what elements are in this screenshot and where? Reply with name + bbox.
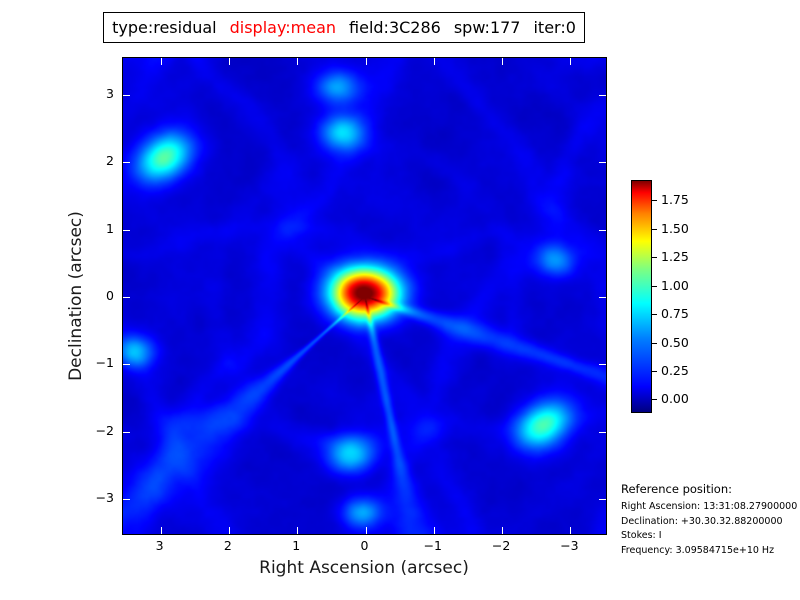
colorbar-tick-mark: [652, 343, 657, 344]
banner-item-spw: spw:177: [454, 20, 521, 36]
y-tick-mark: [599, 364, 606, 365]
x-tick-mark: [434, 527, 435, 534]
y-axis-title: Declination (arcsec): [66, 211, 86, 381]
x-tick-label: −1: [424, 540, 442, 553]
colorbar-tick-label: 1.25: [661, 251, 689, 264]
x-tick-mark: [161, 527, 162, 534]
x-tick-mark: [297, 527, 298, 534]
x-tick-label: 0: [361, 540, 369, 553]
colorbar[interactable]: 1.751.501.251.000.750.500.250.00: [631, 180, 652, 413]
y-tick-mark: [599, 162, 606, 163]
y-tick-mark: [123, 499, 130, 500]
colorbar-tick-mark: [652, 314, 657, 315]
colorbar-tick-mark: [652, 229, 657, 230]
x-tick-mark: [366, 527, 367, 534]
residual-image-plot[interactable]: [122, 57, 607, 535]
reference-declination: Declination: +30.30.32.88200000: [621, 515, 799, 529]
y-tick-mark: [123, 162, 130, 163]
x-tick-mark: [229, 527, 230, 534]
x-tick-label: −2: [492, 540, 510, 553]
x-tick-label: 2: [224, 540, 232, 553]
colorbar-tick-label: 1.00: [661, 279, 689, 292]
y-tick-label: −2: [92, 424, 114, 437]
y-tick-label: 1: [92, 222, 114, 235]
y-tick-label: 2: [92, 155, 114, 168]
x-tick-mark: [434, 58, 435, 65]
y-tick-label: 3: [92, 88, 114, 101]
y-tick-mark: [599, 297, 606, 298]
casa-residual-viewer: type:residualdisplay:meanfield:3C286spw:…: [0, 0, 800, 600]
colorbar-tick-mark: [652, 371, 657, 372]
y-tick-label: −1: [92, 357, 114, 370]
banner-item-type: type:residual: [112, 20, 217, 36]
reference-right-ascension: Right Ascension: 13:31:08.27900000: [621, 500, 799, 514]
reference-position-block: Reference position: Right Ascension: 13:…: [621, 482, 799, 558]
y-tick-mark: [123, 95, 130, 96]
y-tick-label: 0: [92, 290, 114, 303]
colorbar-tick-mark: [652, 286, 657, 287]
x-tick-mark: [297, 58, 298, 65]
colorbar-tick-label: 0.00: [661, 393, 689, 406]
y-tick-mark: [599, 230, 606, 231]
image-info-banner: type:residualdisplay:meanfield:3C286spw:…: [103, 12, 585, 43]
x-tick-mark: [366, 58, 367, 65]
y-tick-mark: [599, 499, 606, 500]
x-tick-mark: [502, 58, 503, 65]
colorbar-tick-mark: [652, 200, 657, 201]
banner-item-display: display:mean: [230, 20, 336, 36]
reference-position-title: Reference position:: [621, 482, 799, 496]
x-tick-mark: [161, 58, 162, 65]
x-axis-title: Right Ascension (arcsec): [259, 558, 469, 578]
colorbar-tick-label: 1.50: [661, 223, 689, 236]
y-tick-mark: [599, 95, 606, 96]
colorbar-tick-mark: [652, 257, 657, 258]
y-tick-mark: [123, 432, 130, 433]
y-tick-mark: [123, 364, 130, 365]
x-tick-mark: [502, 527, 503, 534]
x-tick-mark: [570, 58, 571, 65]
x-tick-mark: [570, 527, 571, 534]
x-tick-label: −3: [560, 540, 578, 553]
y-tick-mark: [123, 297, 130, 298]
colorbar-tick-label: 1.75: [661, 194, 689, 207]
y-tick-label: −3: [92, 492, 114, 505]
y-tick-mark: [123, 230, 130, 231]
colorbar-tick-label: 0.25: [661, 365, 689, 378]
reference-frequency: Frequency: 3.09584715e+10 Hz: [621, 544, 799, 558]
x-tick-label: 3: [156, 540, 164, 553]
colorbar-tick-label: 0.75: [661, 308, 689, 321]
reference-stokes: Stokes: I: [621, 529, 799, 543]
x-tick-label: 1: [292, 540, 300, 553]
x-tick-mark: [229, 58, 230, 65]
residual-sky-image[interactable]: [123, 58, 606, 534]
colorbar-gradient: [631, 180, 652, 413]
banner-item-iter: iter:0: [533, 20, 575, 36]
colorbar-tick-label: 0.50: [661, 336, 689, 349]
colorbar-tick-mark: [652, 399, 657, 400]
y-tick-mark: [599, 432, 606, 433]
banner-item-field: field:3C286: [349, 20, 441, 36]
